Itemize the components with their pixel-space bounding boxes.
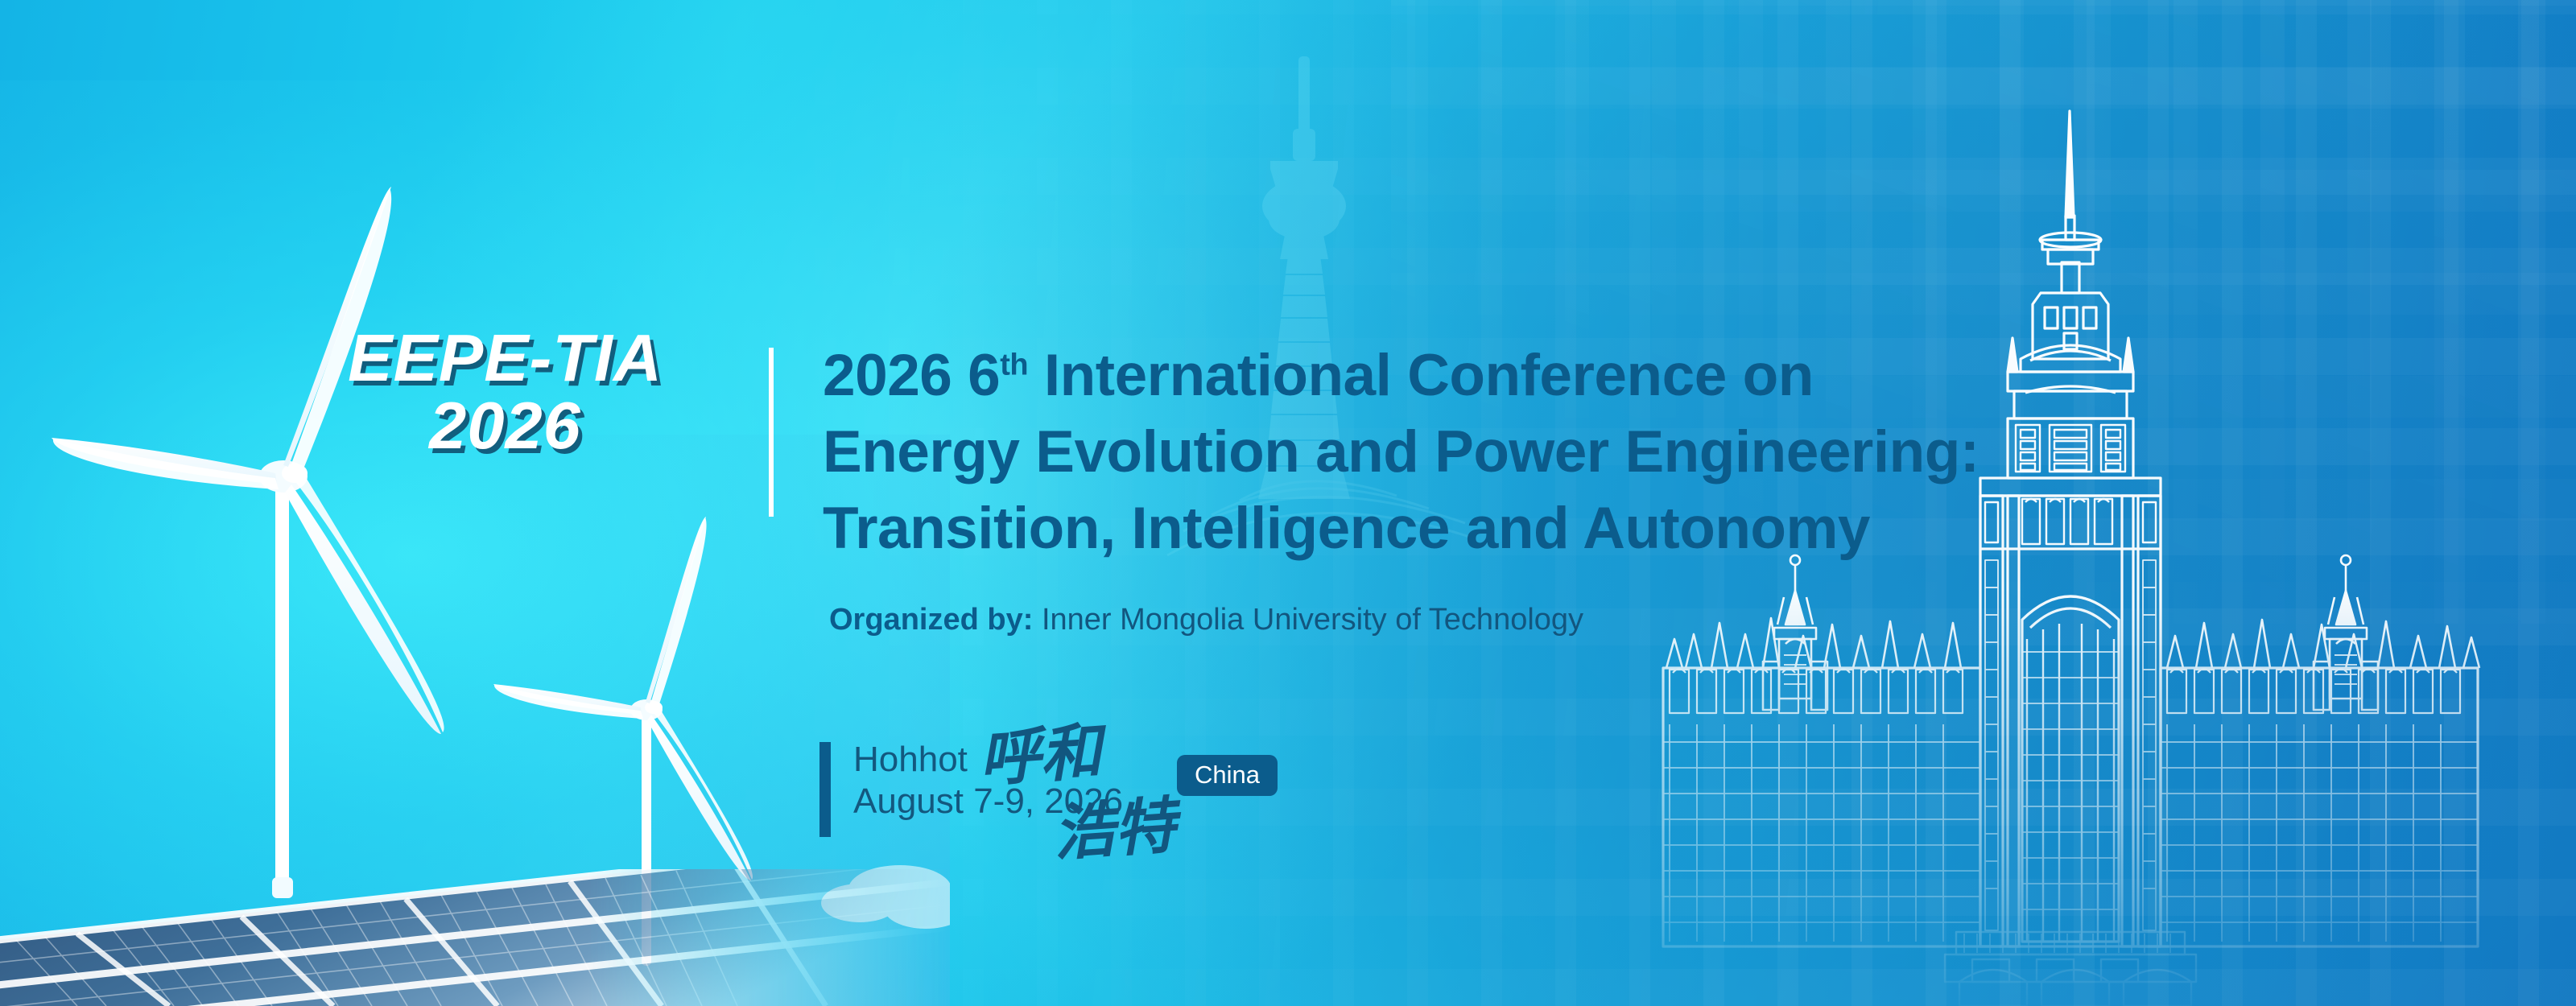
location-text: Hohhot August 7-9, 2026 — [853, 739, 1123, 823]
logo-acronym: EEPE-TIA — [286, 326, 724, 390]
ordinal-suffix: th — [1000, 348, 1028, 382]
organizer-name: Inner Mongolia University of Technology — [1042, 603, 1583, 637]
organizer-line: Organized by: Inner Mongolia University … — [829, 602, 1583, 639]
country-badge: China — [1177, 755, 1278, 796]
title-line-1-rest: International Conference on — [1028, 343, 1814, 408]
location-date: August 7-9, 2026 — [853, 781, 1123, 823]
logo-title-divider — [769, 348, 774, 517]
title-line-1: 2026 6th International Conference on — [823, 338, 2079, 414]
conference-banner: EEPE-TIA 2026 2026 6th International Con… — [0, 0, 2576, 1006]
conference-logo: EEPE-TIA 2026 — [286, 326, 724, 461]
location-city: Hohhot — [853, 739, 1123, 781]
location-accent-bar — [819, 742, 831, 837]
page-title: 2026 6th International Conference on Ene… — [823, 338, 2079, 567]
title-year-ordinal: 2026 6 — [823, 343, 1000, 408]
logo-year: 2026 — [286, 390, 724, 461]
organizer-label: Organized by: — [829, 603, 1033, 637]
location-block: Hohhot August 7-9, 2026 呼和 浩特 China — [819, 739, 1544, 851]
banner-content: EEPE-TIA 2026 2026 6th International Con… — [0, 0, 2576, 1006]
title-line-2: Energy Evolution and Power Engineering: — [823, 414, 2079, 491]
title-line-3: Transition, Intelligence and Autonomy — [823, 491, 2079, 567]
